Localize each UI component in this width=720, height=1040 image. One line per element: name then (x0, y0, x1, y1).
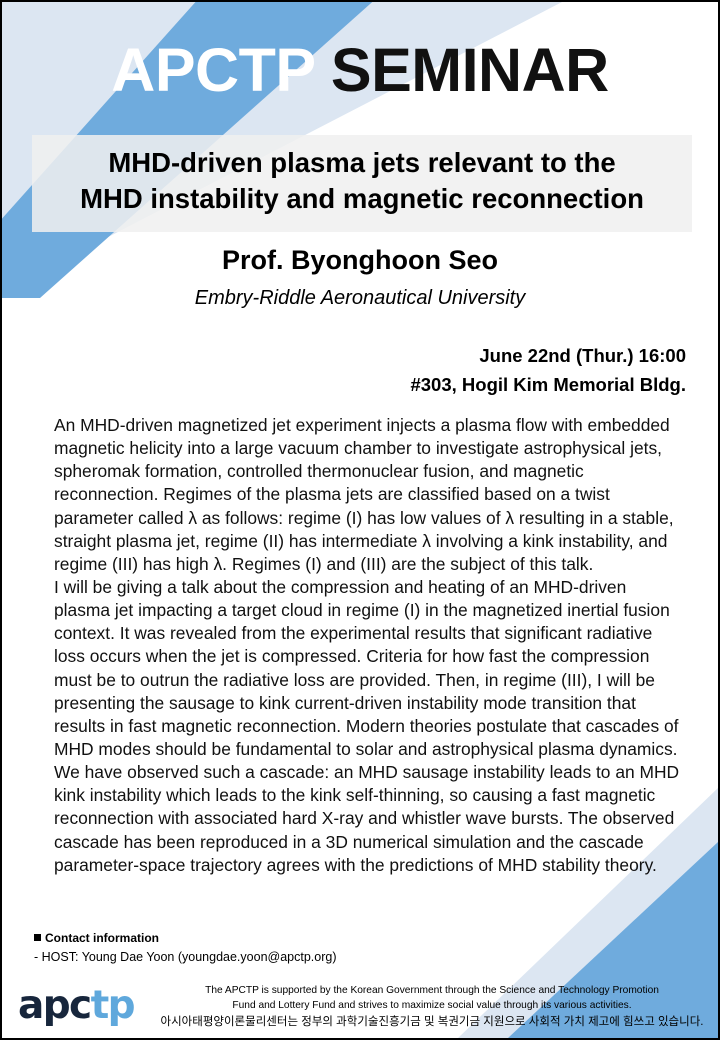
header-kind: SEMINAR (314, 36, 608, 104)
poster-content: APCTP SEMINAR MHD-driven plasma jets rel… (2, 2, 718, 1038)
contact-block: Contact information - HOST: Young Dae Yo… (34, 930, 336, 966)
contact-heading-label: Contact information (45, 931, 159, 945)
seminar-datetime: June 22nd (Thur.) 16:00 (410, 342, 686, 371)
seminar-venue: #303, Hogil Kim Memorial Bldg. (410, 371, 686, 400)
contact-host[interactable]: - HOST: Young Dae Yoon (youngdae.yoon@ap… (34, 948, 336, 967)
abstract-body: An MHD-driven magnetized jet experiment … (54, 414, 686, 877)
seminar-poster: APCTP SEMINAR MHD-driven plasma jets rel… (0, 0, 720, 1040)
talk-title-line-2: MHD instability and magnetic reconnectio… (44, 181, 680, 217)
apctp-logo: apctp (18, 986, 134, 1025)
speaker-affiliation: Embry-Riddle Aeronautical University (2, 287, 718, 310)
poster-header: APCTP SEMINAR (2, 38, 718, 102)
talk-title-line-1: MHD-driven plasma jets relevant to the (44, 145, 680, 181)
abstract-paragraph-1: An MHD-driven magnetized jet experiment … (54, 414, 686, 576)
square-bullet-icon (34, 934, 41, 941)
speaker-name: Prof. Byonghoon Seo (2, 245, 718, 276)
apctp-logo-blue-part: tp (91, 983, 134, 1028)
talk-title: MHD-driven plasma jets relevant to the M… (32, 135, 692, 232)
apctp-logo-dark-part: apc (18, 983, 91, 1028)
schedule-block: June 22nd (Thur.) 16:00 #303, Hogil Kim … (410, 342, 686, 399)
footer-credit: The APCTP is supported by the Korean Gov… (152, 983, 712, 1031)
footer-credit-line-2: Fund and Lottery Fund and strives to max… (152, 998, 712, 1013)
contact-heading: Contact information (34, 930, 336, 948)
abstract-paragraph-2: I will be giving a talk about the compre… (54, 576, 686, 877)
footer-credit-line-korean: 아시아태평양이론물리센터는 정부의 과학기술진흥기금 및 복권기금 지원으로 사… (152, 1014, 712, 1031)
header-brand: APCTP (111, 36, 314, 104)
footer-credit-line-1: The APCTP is supported by the Korean Gov… (152, 983, 712, 998)
